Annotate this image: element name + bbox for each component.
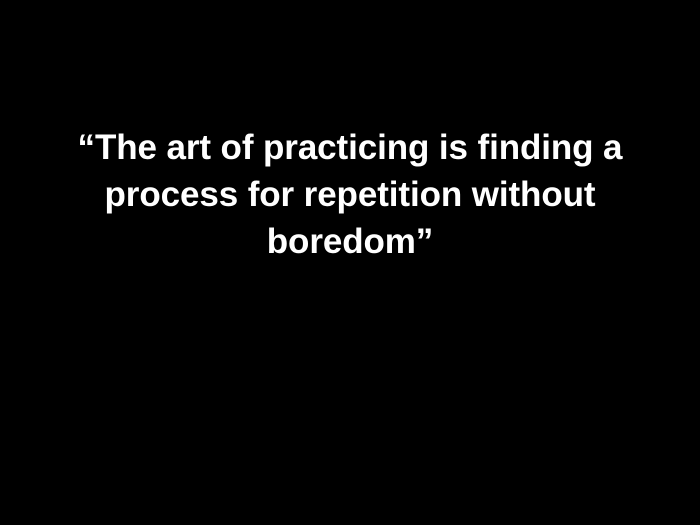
quote-text-block: “The art of practicing is finding a proc… <box>0 124 700 265</box>
quote-line-3: boredom” <box>46 218 654 265</box>
quote-line-1: “The art of practicing is finding a <box>46 124 654 171</box>
quote-line-2: process for repetition without <box>46 171 654 218</box>
presentation-slide: “The art of practicing is finding a proc… <box>0 0 700 525</box>
